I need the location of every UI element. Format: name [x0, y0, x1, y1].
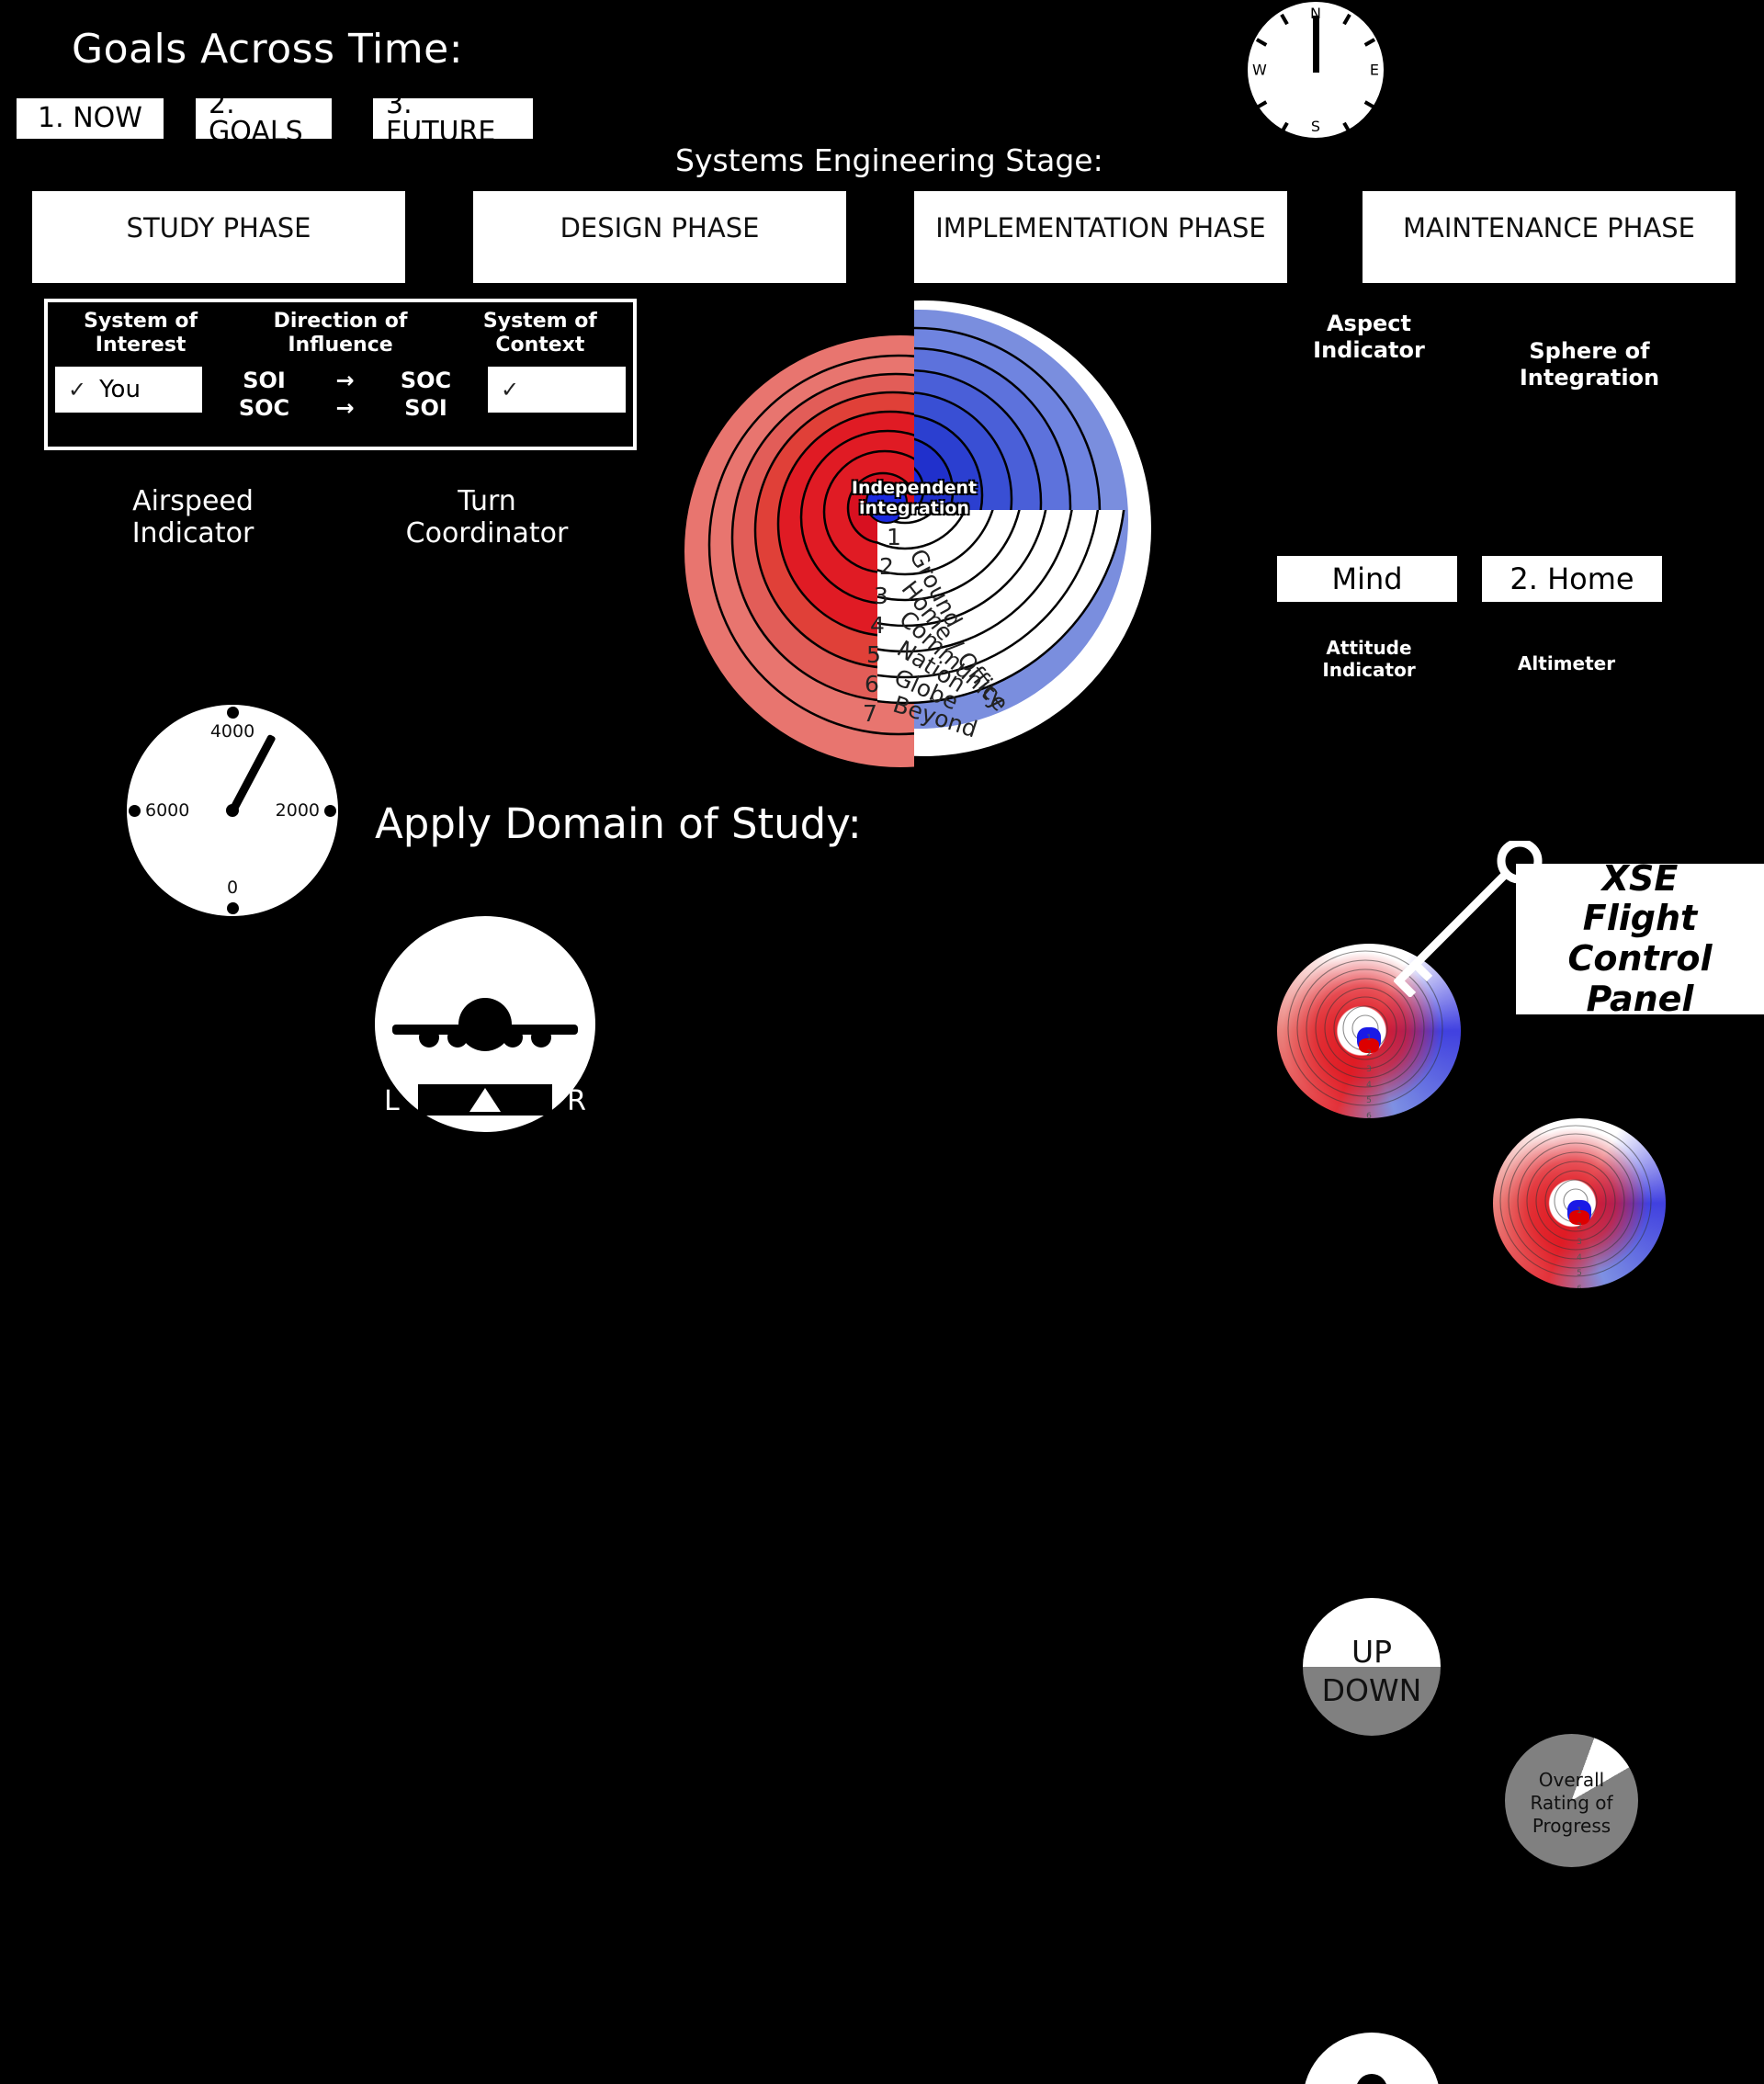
spiral-ring-number: 6 — [865, 671, 879, 697]
airspeed-tick-dot — [227, 707, 239, 719]
sphere-of-integration-value[interactable]: 2. Home — [1482, 556, 1662, 602]
compass-north-label: N — [1310, 5, 1321, 22]
spiral-ring-number: 2 — [879, 553, 894, 580]
phase-maintenance-label: MAINTENANCE PHASE — [1403, 212, 1695, 244]
column-header-system-of-interest: System of Interest — [48, 310, 233, 367]
sphere-ring-numbers: 1 2 3 4 5 6 7 — [1566, 1204, 1593, 1289]
phase-study-button[interactable]: STUDY PHASE — [32, 191, 405, 283]
altimeter-label: Overall Rating of Progress — [1505, 1769, 1638, 1838]
spiral-ring-number: 7 — [863, 700, 877, 727]
soi-soc-table: System of Interest Direction of Influenc… — [44, 299, 637, 450]
turn-coordinator-right-label: R — [567, 1085, 586, 1117]
soi-value-field[interactable]: ✓ You — [55, 367, 202, 413]
phase-study-label: STUDY PHASE — [127, 212, 311, 244]
integration-spiral-diagram[interactable]: Independent integration 1 2 3 4 5 6 7 Gr… — [675, 299, 1153, 776]
attitude-indicator-dial[interactable]: UP DOWN — [1303, 1598, 1441, 1736]
airspeed-tick-label-6000: 6000 — [145, 800, 189, 821]
independent-integration-label: Independent integration — [852, 479, 977, 519]
aspect-ring-numbers: 1 2 3 4 5 6 7 — [1355, 1031, 1383, 1118]
turn-coordinator-title: Turn Coordinator — [367, 485, 606, 550]
keyhole-dial[interactable] — [1303, 2033, 1441, 2084]
compass-west-label: W — [1252, 62, 1267, 79]
check-circle-icon[interactable]: ✓ — [501, 377, 519, 402]
phase-design-button[interactable]: DESIGN PHASE — [473, 191, 846, 283]
time-goal-now-button[interactable]: 1. NOW — [17, 98, 164, 139]
attitude-indicator-title: Attitude Indicator — [1286, 637, 1452, 681]
slip-ball-triangle-icon — [418, 1084, 552, 1116]
altimeter-dial[interactable]: Overall Rating of Progress — [1505, 1734, 1638, 1867]
sphere-of-integration-title: Sphere of Integration — [1488, 338, 1690, 391]
phase-implementation-button[interactable]: IMPLEMENTATION PHASE — [914, 191, 1287, 283]
compass-south-label: S — [1311, 118, 1320, 135]
section-title-se-stage: Systems Engineering Stage: — [675, 142, 1103, 178]
aspect-indicator-title: Aspect Indicator — [1282, 311, 1456, 364]
soc-value-field[interactable]: ✓ — [488, 367, 626, 413]
airspeed-tick-label-4000: 4000 — [210, 721, 254, 742]
attitude-down-label: DOWN — [1303, 1672, 1441, 1708]
airspeed-tick-label-2000: 2000 — [276, 800, 320, 821]
compass-needle — [1313, 16, 1319, 73]
phase-maintenance-button[interactable]: MAINTENANCE PHASE — [1363, 191, 1736, 283]
turn-coordinator-dial[interactable]: L R — [375, 916, 595, 1132]
turn-coordinator-left-label: L — [384, 1085, 400, 1117]
section-title-apply-domain: Apply Domain of Study: — [375, 799, 862, 848]
direction-of-influence-rows: SOI → SOC SOC → SOI — [202, 367, 488, 422]
phase-design-label: DESIGN PHASE — [560, 212, 760, 244]
aspect-indicator-value[interactable]: Mind — [1277, 556, 1457, 602]
direction-row: SOI → SOC — [202, 367, 488, 394]
airspeed-tick-dot — [324, 805, 336, 817]
altimeter-title: Altimeter — [1493, 652, 1640, 674]
airspeed-indicator-title: Airspeed Indicator — [92, 485, 294, 550]
airspeed-indicator-dial[interactable]: 4000 2000 0 6000 — [127, 705, 338, 916]
compass-icon: N E S W — [1246, 0, 1385, 140]
time-goal-future-button[interactable]: 3. FUTURE — [373, 98, 533, 139]
xse-flight-control-panel-plate: XSE Flight Control Panel — [1516, 864, 1764, 1014]
airspeed-tick-label-0: 0 — [227, 878, 238, 898]
check-circle-icon[interactable]: ✓ — [68, 377, 86, 402]
phase-implementation-label: IMPLEMENTATION PHASE — [935, 212, 1266, 244]
spiral-ring-number: 4 — [870, 612, 885, 639]
spiral-ring-number: 1 — [887, 524, 901, 550]
time-goal-goals-button[interactable]: 2. GOALS — [196, 98, 332, 139]
compass-east-label: E — [1370, 62, 1379, 79]
attitude-up-label: UP — [1303, 1634, 1441, 1670]
airspeed-tick-dot — [227, 902, 239, 914]
column-header-system-of-context: System of Context — [447, 310, 633, 367]
direction-row: SOC → SOI — [202, 394, 488, 422]
airspeed-needle — [229, 734, 276, 812]
sphere-of-integration-dial[interactable]: 1 2 3 4 5 6 7 — [1493, 1118, 1666, 1288]
column-header-direction-of-influence: Direction of Influence — [233, 310, 447, 367]
spiral-ring-number: 5 — [866, 641, 881, 668]
airspeed-tick-dot — [129, 805, 141, 817]
soi-value: You — [99, 376, 141, 403]
spiral-ring-number: 3 — [874, 583, 888, 609]
keyhole-icon — [1356, 2074, 1387, 2084]
page-title-goals: Goals Across Time: — [72, 26, 463, 73]
